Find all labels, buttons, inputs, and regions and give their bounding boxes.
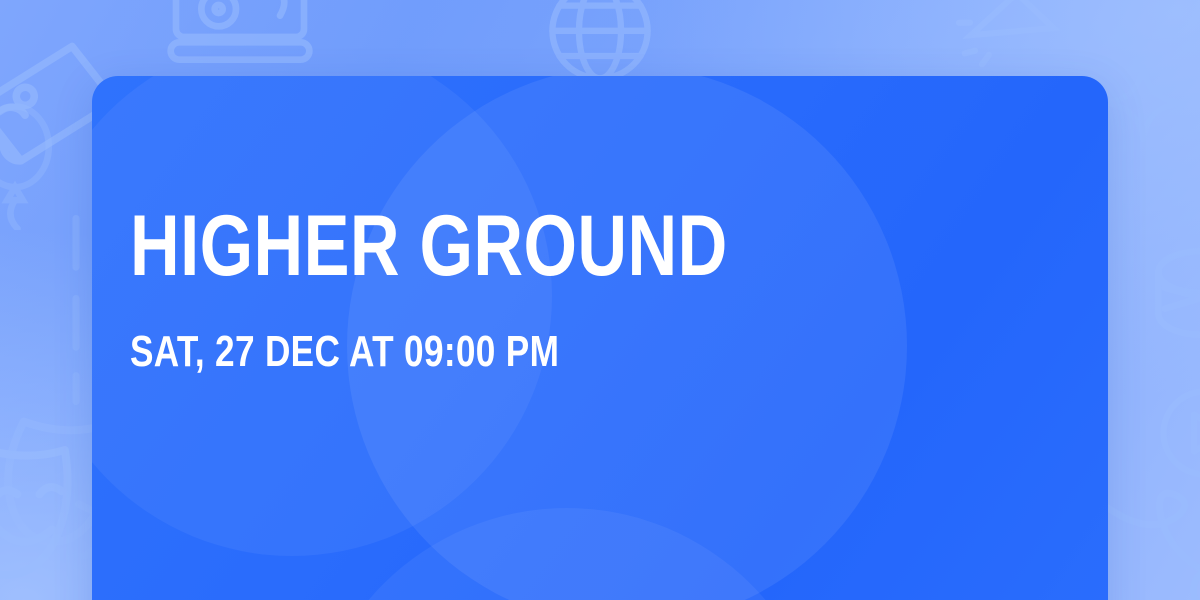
sparkle-icon <box>1098 58 1188 148</box>
event-card[interactable]: HIGHER GROUND SAT, 27 DEC AT 09:00 PM <box>92 76 1108 600</box>
event-title: HIGHER GROUND <box>130 204 880 288</box>
play-circle-icon <box>1150 378 1200 488</box>
balloon-icon <box>0 100 70 230</box>
streamer-icon <box>1098 470 1200 600</box>
event-banner-stage: HIGHER GROUND SAT, 27 DEC AT 09:00 PM <box>0 0 1200 600</box>
event-datetime: SAT, 27 DEC AT 09:00 PM <box>130 330 880 374</box>
event-card-content: HIGHER GROUND SAT, 27 DEC AT 09:00 PM <box>130 204 1068 374</box>
turntable-icon <box>160 0 320 76</box>
drum-icon <box>1140 228 1200 358</box>
